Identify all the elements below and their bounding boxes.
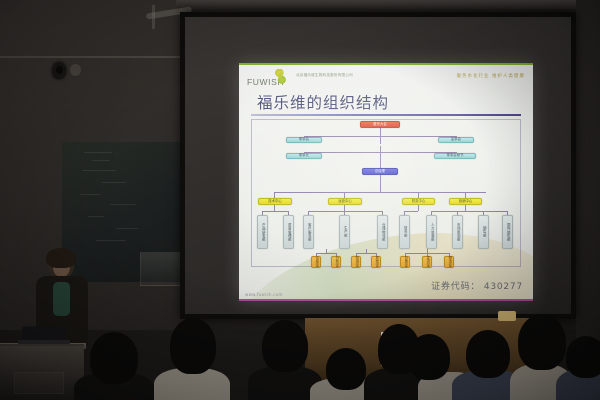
wall-speaker-cone [56,66,63,74]
org-node-unit-2: 分析室 [331,256,341,268]
podium-panel [14,372,64,394]
conduit-vertical [152,5,155,29]
org-node-general-manager: 总经理 [362,168,398,175]
slide-footer-url: www.fuwish.com [245,292,283,297]
org-node-center-marketing: 营销中心 [449,198,482,205]
slide-header-slogan: 服务水化行业 维护人类健康 [457,73,525,79]
org-node-unit-4: 质检室 [371,256,381,268]
audience-head [326,348,366,390]
audience-head [466,330,510,378]
audience-head [262,320,308,372]
presenter-shirt [53,282,70,316]
slide-title-underline [251,114,521,116]
org-node-dept-tech-1: 产品研发部 [257,215,268,249]
slide-title: 福乐维的组织结构 [257,91,389,113]
org-node-center-tech: 技术中心 [258,198,292,205]
org-node-chairman: 董事长 [286,153,322,159]
wall-fixture-icon [70,64,81,76]
audience-head [170,318,216,374]
org-node-unit-7: 物流室 [444,256,454,268]
slide-bottom-rule [239,299,533,301]
org-node-board-secretary: 董事会秘书 [434,153,476,159]
presentation-slide: FUWISH 北京福乐维生物科技股份有限公司 服务水化行业 维护人类健康 福乐维… [239,63,533,301]
org-node-dept-marketing-1: 市场策划部 [452,215,463,249]
org-node-dept-marketing-3: 国内销售部 [502,215,513,249]
presenter-hair [46,248,76,268]
slide-footer-stock-code: 证券代码： 430277 [431,279,523,292]
org-node-board: 董事会 [286,137,322,143]
org-node-shareholders: 股东大会 [360,121,400,128]
audience-head [408,334,450,380]
org-node-unit-6: 发货室 [422,256,432,268]
org-node-supervisors: 监事会 [438,137,474,143]
room-wall-right [576,0,600,340]
org-node-dept-ops-3: 仓储物流部 [377,215,388,249]
audience-head [566,336,600,378]
org-node-unit-5: 包装室 [400,256,410,268]
audience-head [518,314,566,370]
org-node-dept-finance-2: 人力资源部 [426,215,437,249]
fuwish-swirl-logo-icon: FUWISH [247,70,293,83]
org-node-dept-ops-1: 客户服务部 [303,215,314,249]
conduit-horizontal [0,56,186,58]
company-logo: FUWISH 北京福乐维生物科技股份有限公司 [247,70,382,83]
org-node-center-ops: 运营中心 [328,198,362,205]
audience-head [90,332,138,384]
ceiling-beam [176,0,600,9]
cup-on-board [498,311,516,321]
org-node-dept-marketing-2: 销售部 [478,215,489,249]
org-node-unit-1: 合成室 [311,256,321,268]
org-chart: 股东大会 董事会 监事会 董事长 董事会秘书 总经理 技术中心 运营中心 财务中… [251,119,521,267]
org-node-center-finance: 财务中心 [402,198,435,205]
org-node-dept-ops-2: 生产部 [339,215,350,249]
org-node-dept-finance-1: 财务部 [399,215,410,249]
org-node-dept-tech-2: 质量管理部 [283,215,294,249]
slide-header: FUWISH 北京福乐维生物科技股份有限公司 服务水化行业 维护人类健康 [239,65,533,87]
lecture-hall-scene: FUWISH 北京福乐维生物科技股份有限公司 服务水化行业 维护人类健康 福乐维… [0,0,600,400]
org-node-unit-3: 检测室 [351,256,361,268]
logo-chinese-subtitle: 北京福乐维生物科技股份有限公司 [296,73,382,78]
